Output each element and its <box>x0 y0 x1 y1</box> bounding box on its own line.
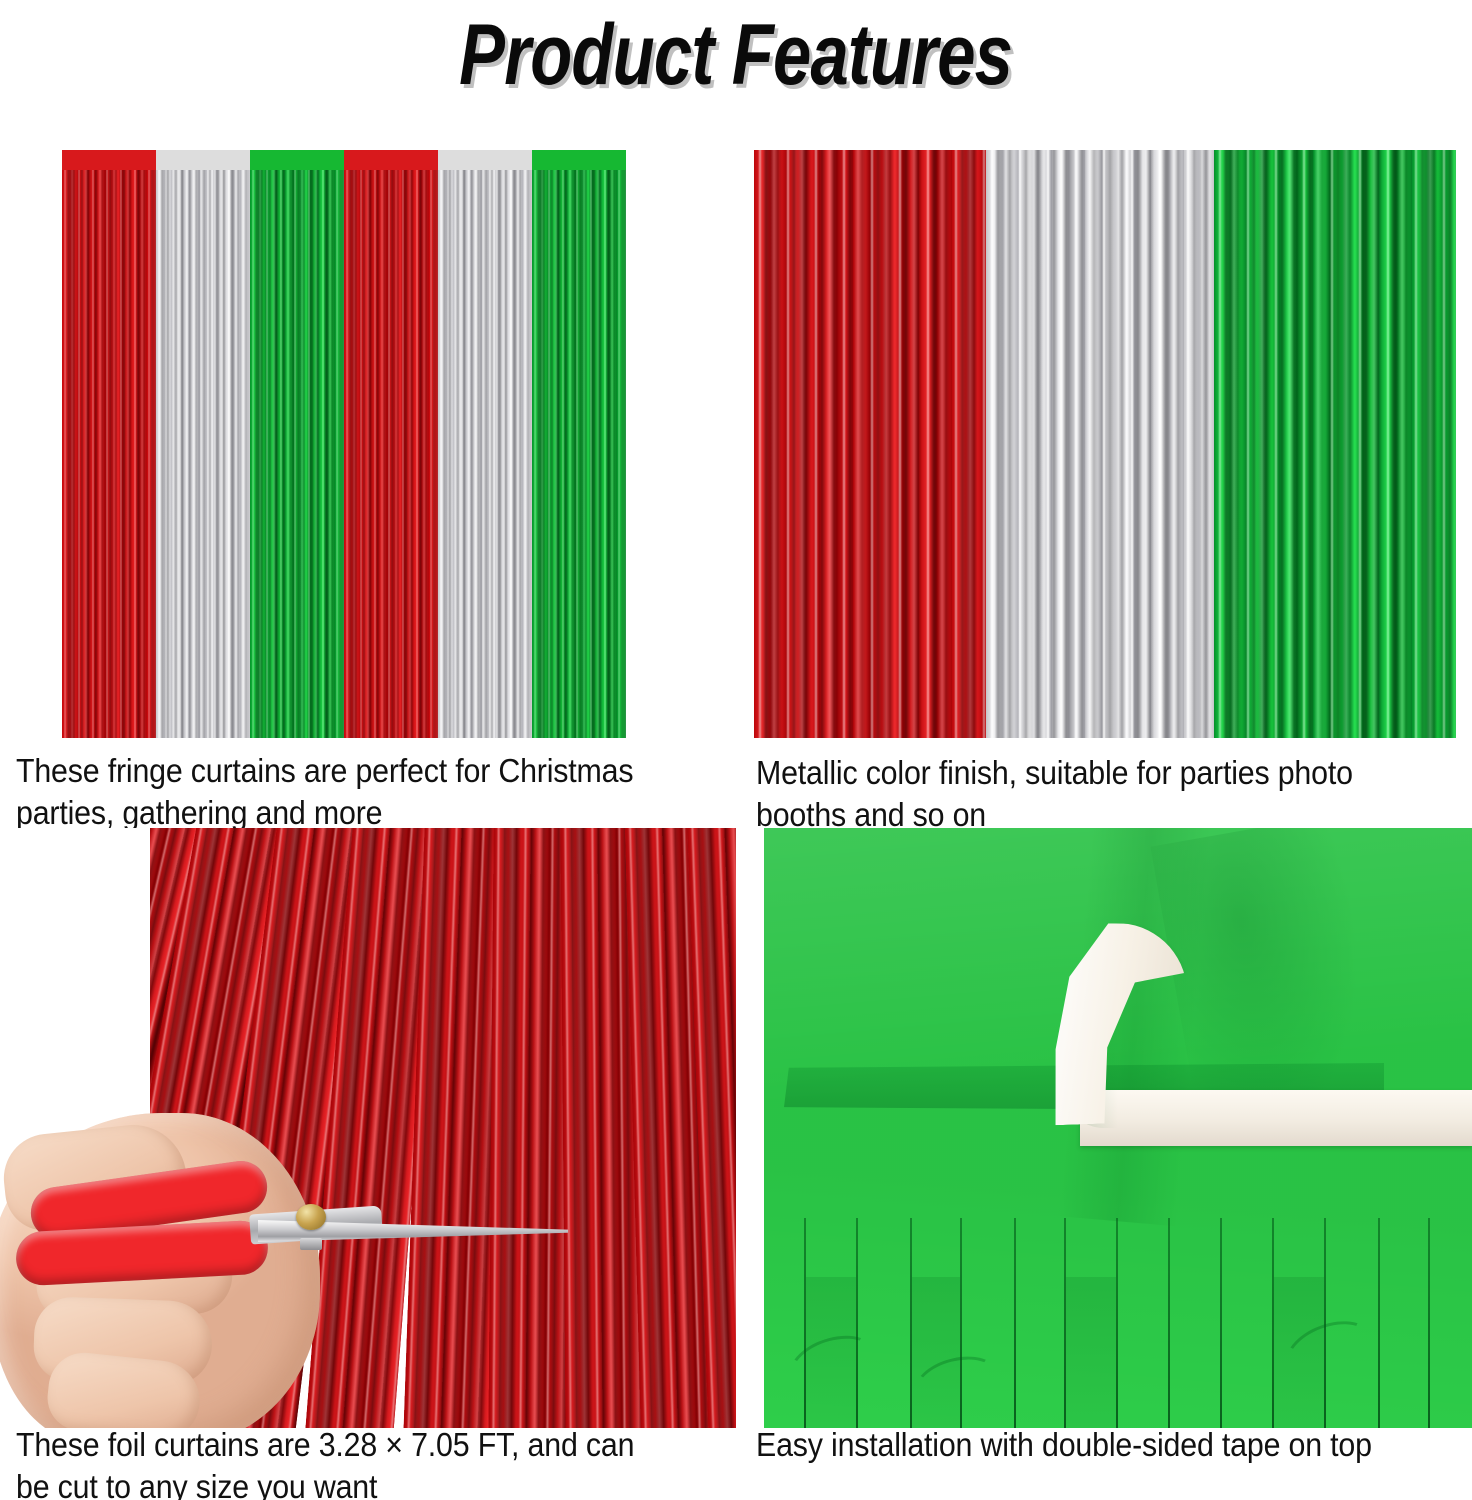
closeup-band-silver <box>986 150 1214 738</box>
stripe-header-band <box>438 150 532 172</box>
feature-cell-cut-to-size <box>0 828 736 1500</box>
stripe-fringe-texture <box>156 170 250 738</box>
caption-fringe-curtain-set: These fringe curtains are perfect for Ch… <box>16 750 660 833</box>
curtain-stripe-green-1 <box>250 150 344 738</box>
scissors-pivot-screw <box>296 1204 326 1230</box>
feature-cell-double-sided-tape <box>736 828 1472 1500</box>
fringe-cut-line <box>1116 1218 1118 1428</box>
photo-cut-to-size <box>0 828 736 1428</box>
fringe-cut-line <box>1014 1218 1016 1428</box>
stripe-fringe-texture <box>62 170 156 738</box>
curtain-stripe-green-2 <box>532 150 626 738</box>
photo-double-sided-tape <box>764 828 1472 1428</box>
fringe-cut-line <box>1168 1218 1170 1428</box>
band-fringe-texture <box>1214 150 1456 738</box>
fringe-cut-line <box>856 1218 858 1428</box>
curtain-stripe-silver-1 <box>156 150 250 738</box>
stripe-header-band <box>250 150 344 172</box>
closeup-band-green <box>1214 150 1456 738</box>
caption-metallic-finish-closeup: Metallic color finish, suitable for part… <box>756 752 1415 835</box>
foil-swirl <box>782 1325 884 1404</box>
scissors-screw-plate <box>300 1238 322 1250</box>
curtain-stripe-silver-2 <box>438 150 532 738</box>
caption-double-sided-tape: Easy installation with double-sided tape… <box>756 1424 1415 1466</box>
stripe-fringe-texture <box>438 170 532 738</box>
fringe-cut-line <box>1220 1218 1222 1428</box>
stripe-header-band <box>532 150 626 172</box>
feature-cell-fringe-curtain-set <box>0 142 736 832</box>
fringe-cut-line <box>1378 1218 1380 1428</box>
stripe-fringe-texture <box>532 170 626 738</box>
page-title-text: Product Features <box>459 6 1012 105</box>
band-fringe-texture <box>986 150 1214 738</box>
green-fringe-cuts <box>764 1218 1472 1428</box>
stripe-fringe-texture <box>250 170 344 738</box>
double-sided-tape-strip <box>1080 1090 1472 1146</box>
photo-metallic-finish-closeup <box>754 150 1456 738</box>
product-features-infographic: Product Features <box>0 0 1472 1500</box>
stripe-header-band <box>62 150 156 172</box>
band-fringe-texture <box>754 150 986 738</box>
curtain-stripe-red-2 <box>344 150 438 738</box>
closeup-band-red <box>754 150 986 738</box>
stripe-header-band <box>156 150 250 172</box>
curtain-stripe-red-1 <box>62 150 156 738</box>
feature-row-top <box>0 142 1472 832</box>
stripe-header-band <box>344 150 438 172</box>
feature-row-bottom <box>0 828 1472 1500</box>
photo-fringe-curtain-set <box>62 150 626 738</box>
page-title: Product Features <box>0 0 1472 110</box>
fringe-cut-line <box>1428 1218 1430 1428</box>
stripe-fringe-texture <box>344 170 438 738</box>
caption-cut-to-size: These foil curtains are 3.28 × 7.05 FT, … <box>16 1424 669 1500</box>
strand-shading <box>1066 1277 1116 1428</box>
feature-cell-metallic-finish-closeup <box>736 142 1472 832</box>
